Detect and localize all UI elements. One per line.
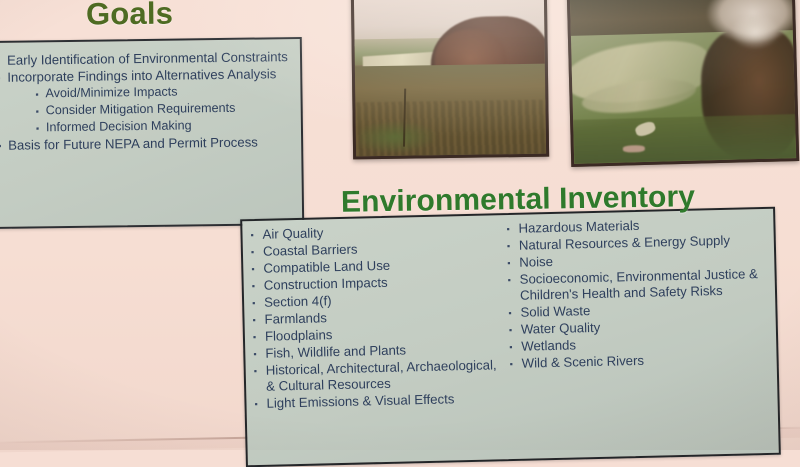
environmental-inventory-lists: ▪ Air Quality ▪ Coastal Barriers ▪ Compa… [240,207,777,463]
presentation-slide: Goals ▪ Early Identification of Environm… [0,0,800,450]
square-bullet-icon: ▪ [250,227,262,244]
goals-bullet-text: Incorporate Findings into Alternatives A… [7,66,292,85]
photo-grassy-clearing-image [570,0,796,164]
environmental-inventory-right-column: ▪ Hazardous Materials ▪ Natural Resource… [498,215,775,457]
square-bullet-icon: ▪ [36,120,46,136]
environmental-inventory-left-column: ▪ Air Quality ▪ Coastal Barriers ▪ Compa… [250,221,503,463]
square-bullet-icon: ▪ [251,261,263,278]
goals-bullet-item: ▪ Basis for Future NEPA and Permit Proce… [0,134,293,154]
square-bullet-icon: ▪ [36,103,46,119]
photo-rock-detail [623,145,645,152]
square-bullet-icon: ▪ [509,339,521,356]
square-bullet-icon: ▪ [254,363,266,380]
goals-bullet-text: Early Identification of Environmental Co… [7,49,292,68]
square-bullet-icon: ▪ [252,312,264,329]
square-bullet-icon: ▪ [509,356,521,373]
photo-brushy-field [351,0,549,159]
photo-grassy-clearing [567,0,799,167]
square-bullet-icon: ▪ [507,238,519,255]
goals-subbullet-text: Avoid/Minimize Impacts [45,83,292,102]
photo-foreground-grass-region [573,114,796,163]
square-bullet-icon: ▪ [253,329,265,346]
square-bullet-icon: ▪ [252,295,264,312]
goals-subbullet-text: Consider Mitigation Requirements [46,100,293,119]
environmental-inventory-heading: Environmental Inventory [341,180,696,220]
list-item-label: Historical, Architectural, Archaeologica… [266,357,503,395]
goals-heading: Goals [86,0,174,32]
goals-subbullet-text: Informed Decision Making [46,117,293,136]
square-bullet-icon: ▪ [0,138,8,154]
goals-bullet-list: ▪ Early Identification of Environmental … [0,37,300,225]
square-bullet-icon: ▪ [252,278,264,295]
square-bullet-icon: ▪ [507,255,519,272]
square-bullet-icon: ▪ [508,305,520,322]
goals-bullet-text: Basis for Future NEPA and Permit Process [8,134,293,153]
square-bullet-icon: ▪ [509,322,521,339]
square-bullet-icon: ▪ [508,272,520,289]
square-bullet-icon: ▪ [253,346,265,363]
photo-brushy-field-image [354,0,546,156]
square-bullet-icon: ▪ [254,396,266,413]
square-bullet-icon: ▪ [35,86,45,102]
square-bullet-icon: ▪ [506,221,518,238]
square-bullet-icon: ▪ [251,244,263,261]
